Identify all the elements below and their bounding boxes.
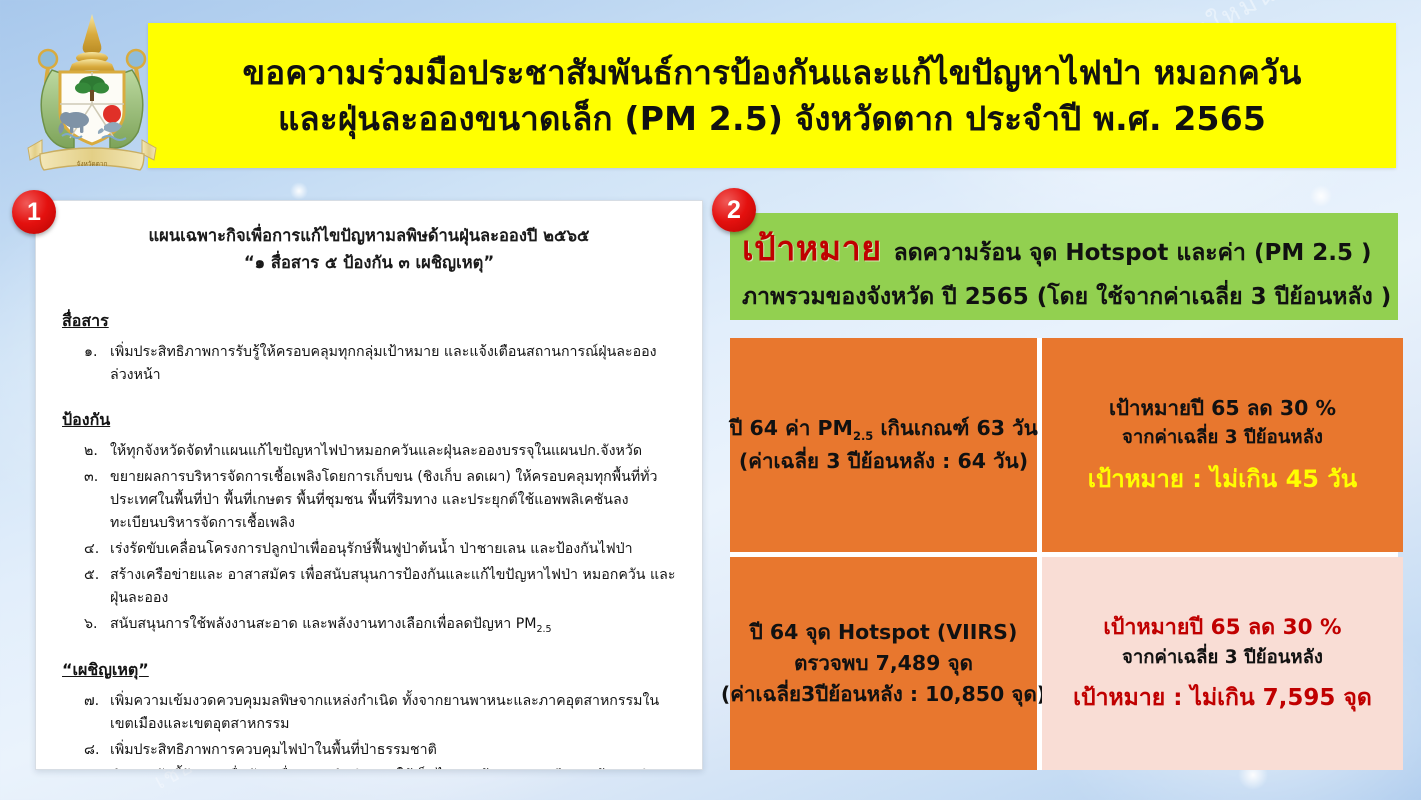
goal-header-line-1: เป้าหมาย ลดความร้อน จุด Hotspot และค่า (… [742, 221, 1388, 275]
section-heading: สื่อสาร [62, 309, 109, 334]
header-banner: ขอความร่วมมือประชาสัมพันธ์การป้องกันและแ… [148, 23, 1396, 168]
plan-item-text: สร้างเครือข่ายและ อาสาสมัคร เพื่อสนับสนุ… [110, 564, 676, 610]
page-title-line-1: ขอความร่วมมือประชาสัมพันธ์การป้องกันและแ… [243, 50, 1302, 96]
plan-item-number: ๙. [84, 765, 101, 770]
goal-header-line-2: ภาพรวมของจังหวัด ปี 2565 (โดย ใช้จากค่าเ… [742, 279, 1388, 315]
plan-item: ๒.ให้ทุกจังหวัดจัดทำแผนแก้ไขปัญหาไฟป่าหม… [84, 440, 676, 463]
plan-item: ๖.สนับสนุนการใช้พลังงานสะอาด และพลังงานท… [84, 613, 676, 637]
section-badge-2: 2 [712, 188, 756, 232]
plan-item: ๘.เพิ่มประสิทธิภาพการควบคุมไฟป่าในพื้นที… [84, 739, 676, 762]
tak-province-emblem-icon: จังหวัดตาก [12, 8, 172, 180]
goal-cell-line: (ค่าเฉลี่ย3ปีย้อนหลัง : 10,850 จุด) [721, 679, 1046, 710]
goal-cell-line: เป้าหมาย : ไม่เกิน 7,595 จุด [1073, 681, 1372, 716]
goal-cell-line: ปี 64 ค่า PM2.5 เกินเกณฑ์ 63 วัน [729, 413, 1037, 445]
goal-header: เป้าหมาย ลดความร้อน จุด Hotspot และค่า (… [730, 213, 1398, 320]
goal-cell-line: จากค่าเฉลี่ย 3 ปีย้อนหลัง [1122, 424, 1323, 452]
plan-item-number: ๔. [84, 538, 101, 561]
goal-keyword: เป้าหมาย [742, 221, 882, 275]
page-title-line-2: และฝุ่นละอองขนาดเล็ก (PM 2.5) จังหวัดตาก… [278, 96, 1266, 142]
plan-item: ๕.สร้างเครือข่ายและ อาสาสมัคร เพื่อสนับส… [84, 564, 676, 610]
plan-item-text: เพิ่มความเข้มงวดควบคุมมลพิษจากแหล่งกำเนิ… [110, 690, 676, 736]
section-item-list: ๗.เพิ่มความเข้มงวดควบคุมมลพิษจากแหล่งกำเ… [62, 690, 676, 770]
goal-cell-line: เป้าหมายปี 65 ลด 30 % [1109, 393, 1336, 424]
plan-item: ๗.เพิ่มความเข้มงวดควบคุมมลพิษจากแหล่งกำเ… [84, 690, 676, 736]
plan-item-number: ๑. [84, 341, 101, 387]
plan-item-text: เพิ่มประสิทธิภาพการควบคุมไฟป่าในพื้นที่ป… [110, 739, 676, 762]
goal-cell-hotspot-target: เป้าหมายปี 65 ลด 30 %จากค่าเฉลี่ย 3 ปีย้… [1042, 557, 1403, 771]
sparkle-decoration [1310, 185, 1332, 207]
plan-item-number: ๖. [84, 613, 101, 637]
plan-item-number: ๕. [84, 564, 101, 610]
plan-title: แผนเฉพาะกิจเพื่อการแก้ไขปัญหามลพิษด้านฝุ… [62, 223, 676, 249]
goal-cell-line: ปี 64 จุด Hotspot (VIIRS) [750, 617, 1018, 648]
plan-item-text: กำหนดตัวชี้วัดร่วมเพื่อขับเคลื่อนการดำเน… [110, 765, 676, 770]
goal-cell-line: เป้าหมาย : ไม่เกิน 45 วัน [1088, 461, 1357, 497]
goal-headline-tail: ลดความร้อน จุด Hotspot และค่า (PM 2.5 ) [894, 235, 1372, 271]
svg-text:จังหวัดตาก: จังหวัดตาก [77, 160, 108, 168]
section-item-list: ๒.ให้ทุกจังหวัดจัดทำแผนแก้ไขปัญหาไฟป่าหม… [62, 440, 676, 637]
goal-cell-pm25-current: ปี 64 ค่า PM2.5 เกินเกณฑ์ 63 วัน(ค่าเฉลี… [730, 338, 1037, 552]
section-heading: “เผชิญเหตุ” [62, 658, 149, 683]
plan-item: ๑.เพิ่มประสิทธิภาพการรับรู้ให้ครอบคลุมทุ… [84, 341, 676, 387]
plan-subtitle: “๑ สื่อสาร ๕ ป้องกัน ๓ เผชิญเหตุ” [62, 250, 676, 276]
plan-item-number: ๓. [84, 466, 101, 535]
subscript: 2.5 [853, 429, 873, 443]
section-badge-1: 1 [12, 190, 56, 234]
plan-sections: สื่อสาร๑.เพิ่มประสิทธิภาพการรับรู้ให้ครอ… [62, 275, 676, 770]
subscript: 2.5 [536, 624, 551, 635]
plan-item-text: เพิ่มประสิทธิภาพการรับรู้ให้ครอบคลุมทุกก… [110, 341, 676, 387]
goal-cell-line: เป้าหมายปี 65 ลด 30 % [1103, 612, 1341, 644]
goal-cell-pm25-target: เป้าหมายปี 65 ลด 30 %จากค่าเฉลี่ย 3 ปีย้… [1042, 338, 1403, 552]
plan-item-text: ขยายผลการบริหารจัดการเชื้อเพลิงโดยการเก็… [110, 466, 676, 535]
plan-item-text: ให้ทุกจังหวัดจัดทำแผนแก้ไขปัญหาไฟป่าหมอก… [110, 440, 676, 463]
goal-cell-line: (ค่าเฉลี่ย 3 ปีย้อนหลัง : 64 วัน) [739, 446, 1028, 477]
plan-item-number: ๘. [84, 739, 101, 762]
goal-cell-hotspot-current: ปี 64 จุด Hotspot (VIIRS)ตรวจพบ 7,489 จุ… [730, 557, 1037, 771]
goal-comparison-table: ปี 64 ค่า PM2.5 เกินเกณฑ์ 63 วัน(ค่าเฉลี… [730, 338, 1398, 770]
goal-cell-line: จากค่าเฉลี่ย 3 ปีย้อนหลัง [1122, 644, 1323, 672]
plan-document-card: แผนเฉพาะกิจเพื่อการแก้ไขปัญหามลพิษด้านฝุ… [35, 200, 703, 770]
plan-item: ๓.ขยายผลการบริหารจัดการเชื้อเพลิงโดยการเ… [84, 466, 676, 535]
goal-cell-line: ตรวจพบ 7,489 จุด [794, 648, 973, 679]
plan-item: ๔.เร่งรัดขับเคลื่อนโครงการปลูกป่าเพื่ออน… [84, 538, 676, 561]
plan-item-number: ๗. [84, 690, 101, 736]
plan-item-number: ๒. [84, 440, 101, 463]
plan-item: ๙.กำหนดตัวชี้วัดร่วมเพื่อขับเคลื่อนการดำ… [84, 765, 676, 770]
sparkle-decoration [290, 182, 308, 200]
section-heading: ป้องกัน [62, 408, 110, 433]
plan-item-text: สนับสนุนการใช้พลังงานสะอาด และพลังงานทาง… [110, 613, 676, 637]
plan-item-text: เร่งรัดขับเคลื่อนโครงการปลูกป่าเพื่ออนุร… [110, 538, 676, 561]
section-item-list: ๑.เพิ่มประสิทธิภาพการรับรู้ให้ครอบคลุมทุ… [62, 341, 676, 387]
